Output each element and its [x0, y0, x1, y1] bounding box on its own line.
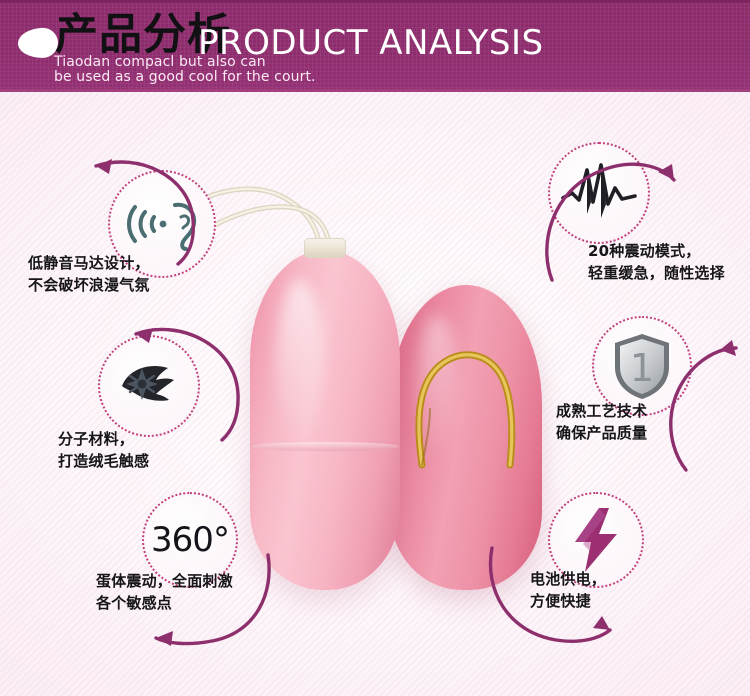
feature-label-battery-power: 电池供电， 方便快捷: [530, 568, 730, 612]
svg-text:1: 1: [630, 346, 654, 390]
360-degree-icon: 360°: [151, 520, 229, 560]
lightning-bolt-icon: [569, 506, 623, 574]
product-image: [185, 180, 565, 610]
waveform-pulse-icon: [560, 162, 638, 224]
egg-seam-line: [251, 442, 399, 451]
header-subtitle: Tiaodan compacl but also can be used as …: [54, 55, 316, 85]
feature-label-360-vibration: 蛋体震动，全面刺激 各个敏感点: [96, 570, 326, 614]
header-top-rule: [0, 0, 750, 3]
feature-circle-vibration-modes: [548, 142, 650, 244]
shield-number-one-icon: 1: [611, 331, 673, 401]
feature-label-quality-assurance: 成熟工艺技术 确保产品质量: [556, 400, 750, 444]
feature-label-vibration-modes: 20种震动模式， 轻重缓急，随性选择: [588, 240, 750, 284]
feature-label-low-noise-motor: 低静音马达设计， 不会破坏浪漫气氛: [28, 252, 228, 296]
product-analysis-graphic: 产品分析 PRODUCT ANALYSIS Tiaodan compacl bu…: [0, 0, 750, 696]
cord-cap: [304, 238, 346, 258]
header-bottom-rule: [0, 89, 750, 92]
sound-wave-ear-icon: [125, 195, 199, 253]
header-banner: 产品分析 PRODUCT ANALYSIS Tiaodan compacl bu…: [0, 0, 750, 92]
feather-sparkle-icon: [114, 356, 184, 416]
feature-circle-molecular-material: [98, 335, 200, 437]
feature-label-molecular-material: 分子材料， 打造绒毛触感: [58, 428, 258, 472]
teardrop-bullet-icon: [17, 27, 58, 58]
